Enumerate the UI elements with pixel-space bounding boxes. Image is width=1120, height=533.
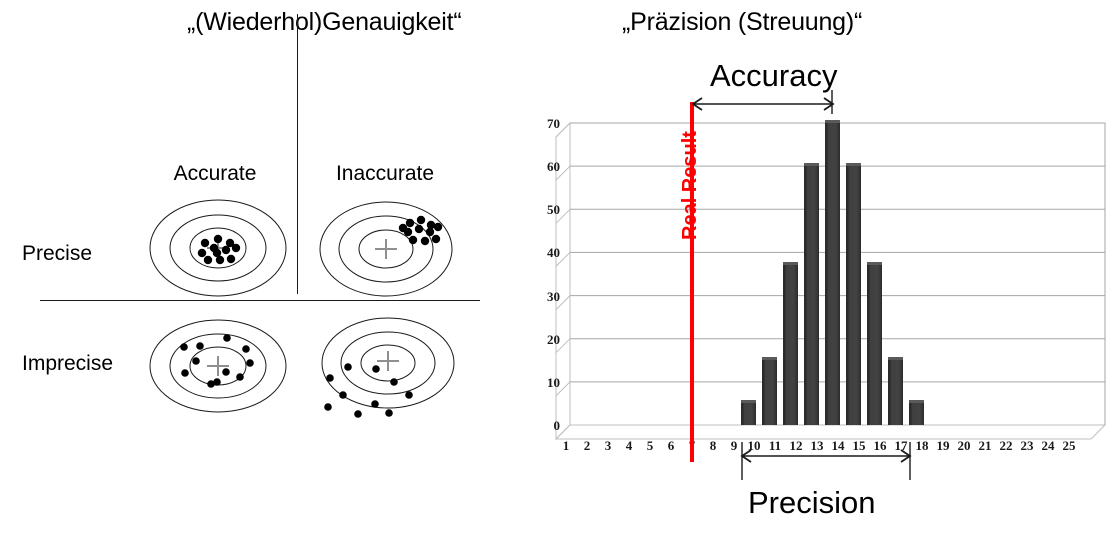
x-axis-tick: 22 <box>997 438 1015 454</box>
bar-top-16 <box>888 357 903 360</box>
x-axis-tick: 2 <box>578 438 596 454</box>
x-axis-tick: 4 <box>620 438 638 454</box>
bar-top-11 <box>783 262 798 265</box>
precision-arrow <box>730 440 930 482</box>
y-axis-tick: 0 <box>526 418 560 434</box>
x-axis-tick: 25 <box>1060 438 1078 454</box>
x-axis-tick: 21 <box>976 438 994 454</box>
bar-12 <box>804 166 819 425</box>
y-axis-tick: 60 <box>526 159 560 175</box>
y-axis-tick: 10 <box>526 375 560 391</box>
x-axis-tick: 6 <box>662 438 680 454</box>
bar-10 <box>762 360 777 425</box>
bar-top-12 <box>804 163 819 166</box>
y-axis-tick: 50 <box>526 202 560 218</box>
x-axis-tick: 19 <box>934 438 952 454</box>
bar-top-14 <box>846 163 861 166</box>
accuracy-arrow <box>680 88 850 118</box>
y-axis-tick: 70 <box>526 116 560 132</box>
x-axis-tick: 23 <box>1018 438 1036 454</box>
bar-9 <box>741 403 756 425</box>
bar-15 <box>867 265 882 425</box>
x-axis-tick: 24 <box>1039 438 1057 454</box>
real-result-label: Real Result <box>679 131 702 240</box>
bar-top-15 <box>867 262 882 265</box>
bar-top-13 <box>825 120 840 123</box>
bar-16 <box>888 360 903 425</box>
bar-17 <box>909 403 924 425</box>
x-axis-tick: 1 <box>557 438 575 454</box>
bar-13 <box>825 123 840 425</box>
bar-top-10 <box>762 357 777 360</box>
x-axis-tick: 20 <box>955 438 973 454</box>
y-axis-tick: 20 <box>526 332 560 348</box>
precision-label: Precision <box>748 485 876 521</box>
x-axis-tick: 3 <box>599 438 617 454</box>
y-axis-tick: 40 <box>526 245 560 261</box>
bar-top-17 <box>909 400 924 403</box>
x-axis-tick: 8 <box>704 438 722 454</box>
y-axis-tick: 30 <box>526 289 560 305</box>
bar-14 <box>846 166 861 425</box>
bar-top-9 <box>741 400 756 403</box>
histogram-chart: 70 60 50 40 30 20 10 0 1 2 3 4 5 6 7 8 9… <box>0 0 1120 533</box>
x-axis-tick: 5 <box>641 438 659 454</box>
bar-11 <box>783 265 798 425</box>
